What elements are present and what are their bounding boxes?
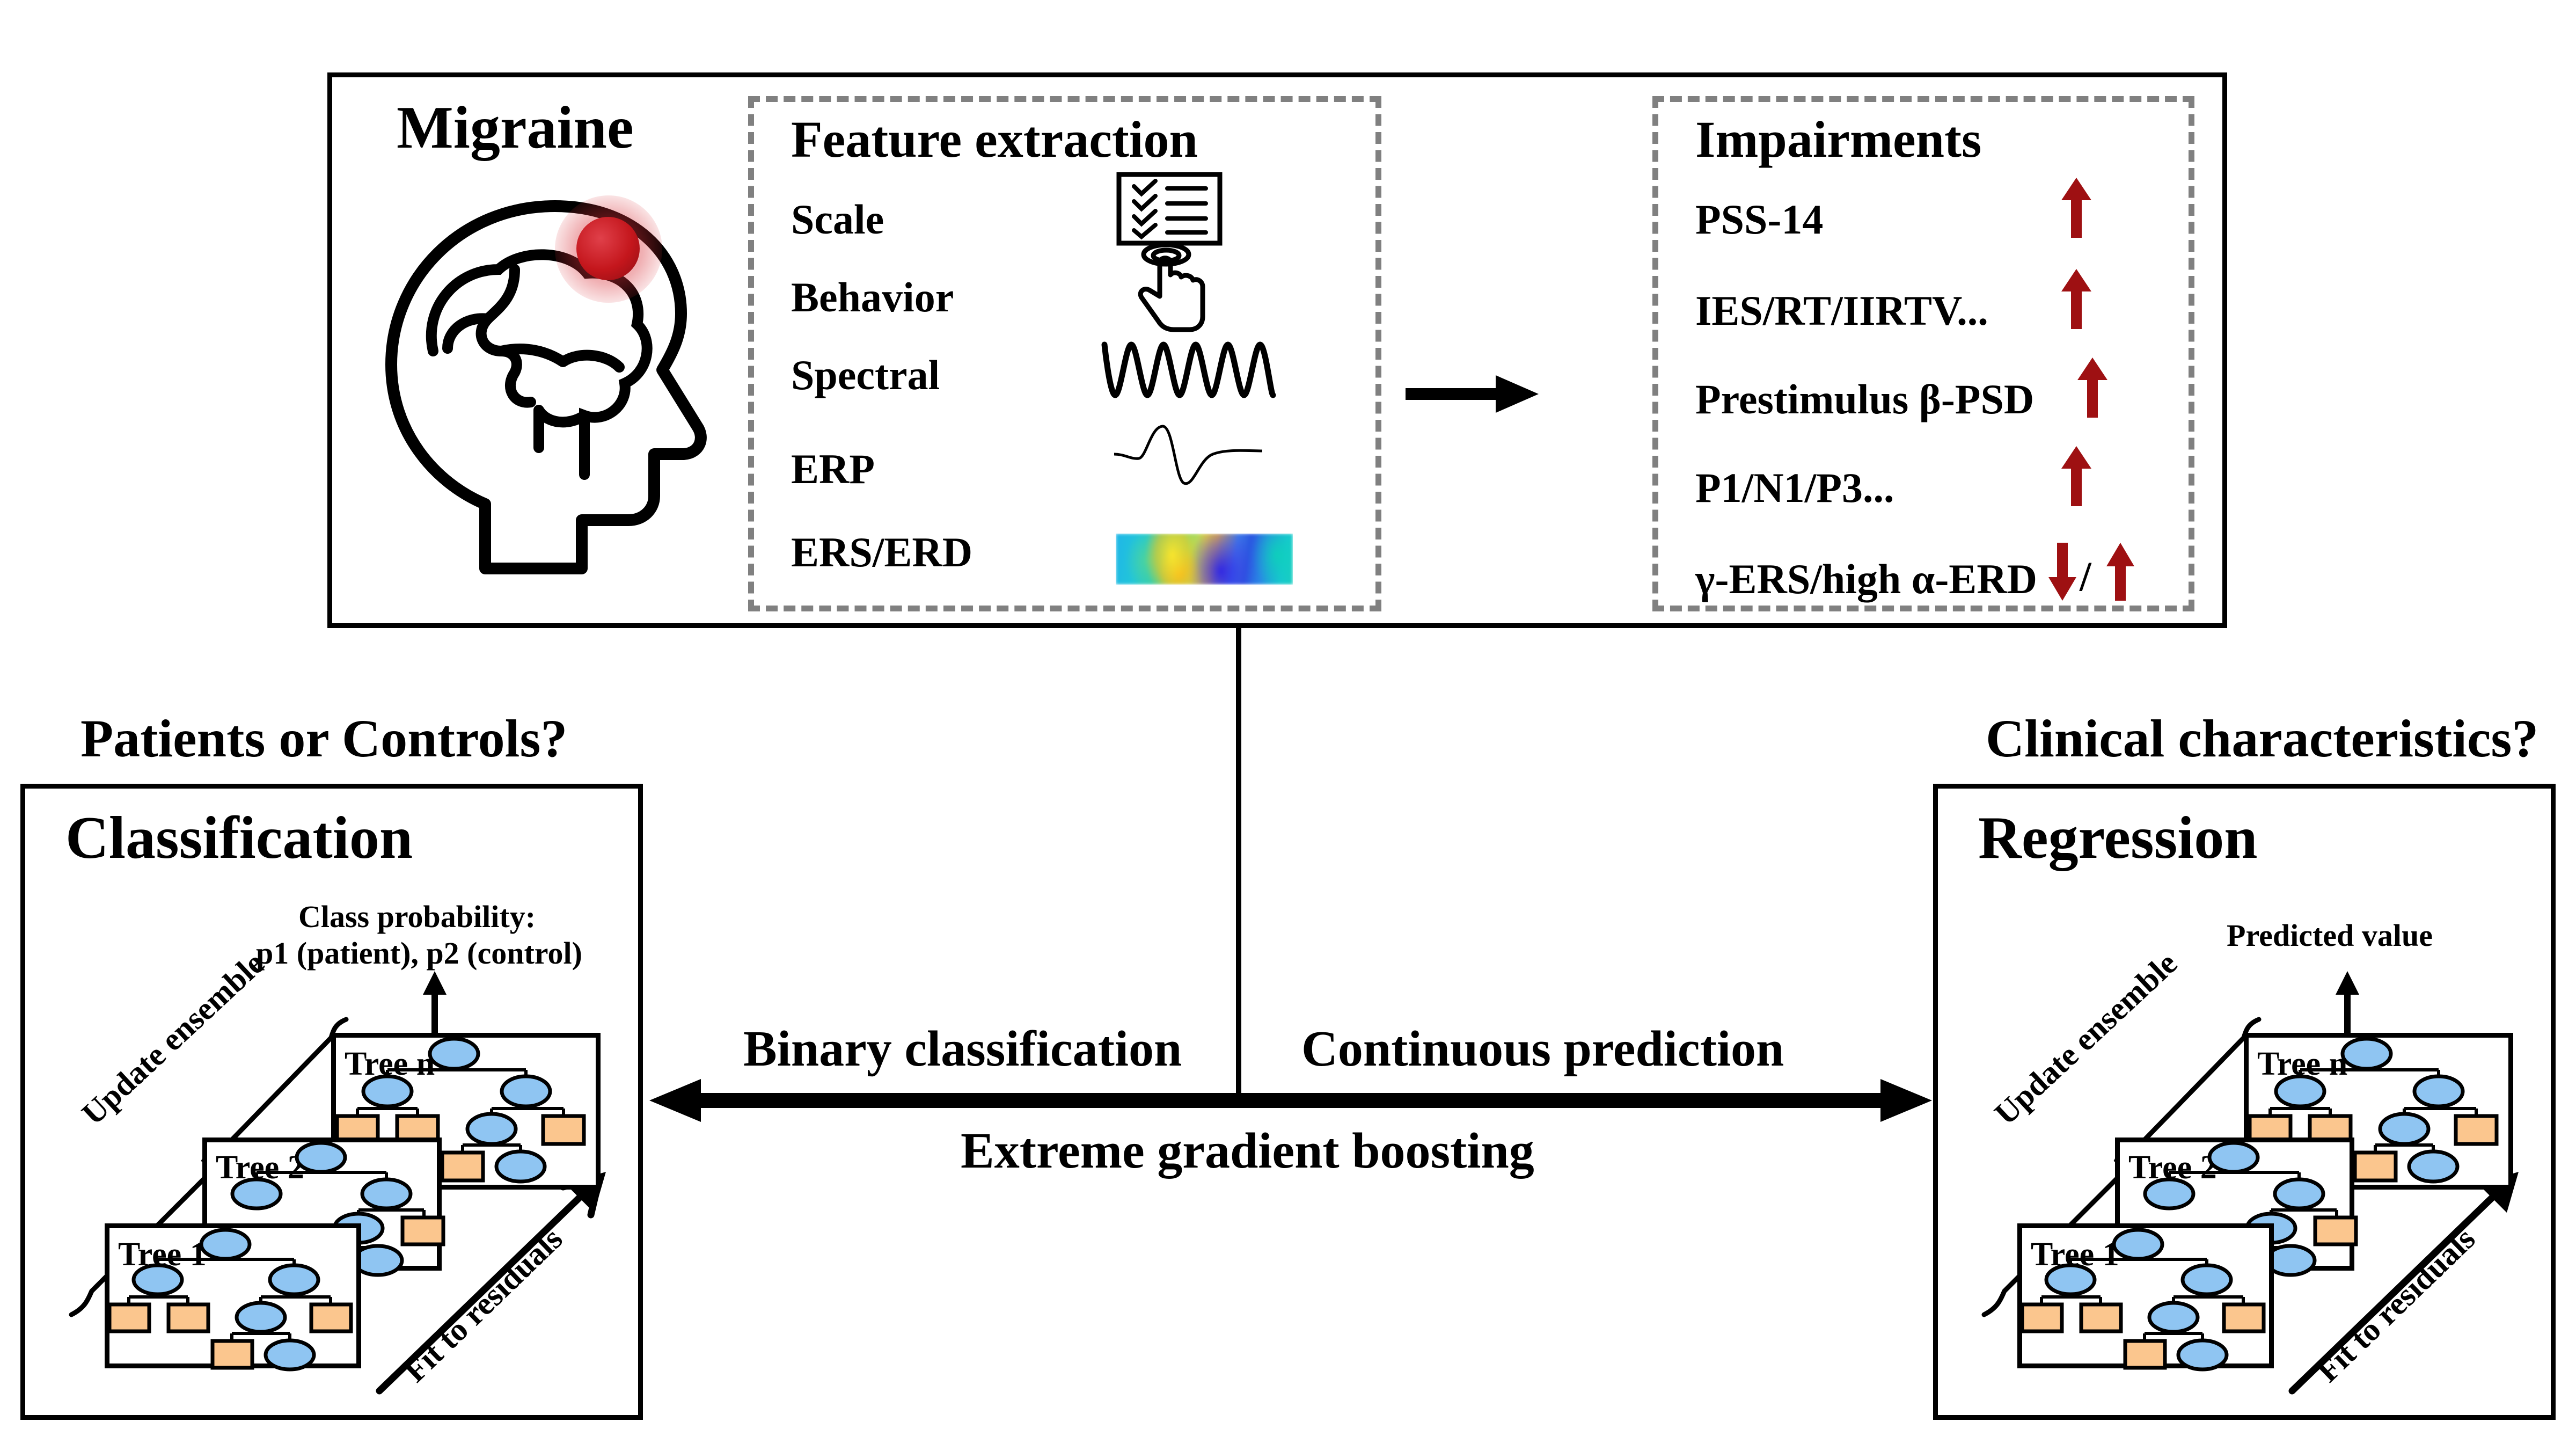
checklist-icon — [1116, 171, 1223, 246]
impairment-label-ies-rt-iirtv: IES/RT/IIRTV... — [1695, 287, 1988, 335]
regression-title: Regression — [1978, 804, 2258, 873]
classification-panel: Classification Class probability: p1 (pa… — [20, 784, 643, 1420]
tree-card-1: Tree 1 — [2017, 1223, 2274, 1368]
right-arrow-label: Continuous prediction — [1301, 1020, 1784, 1078]
trend-up-icon-ies — [2060, 268, 2092, 330]
impairment-label-pss14: PSS-14 — [1695, 195, 1823, 244]
output-arrow-up-icon — [2332, 971, 2362, 1041]
time-frequency-heatmap-icon — [1116, 534, 1293, 585]
tree-graph-1 — [109, 1228, 366, 1373]
feature-item-label-erp: ERP — [791, 445, 875, 493]
left-question: Patients or Controls? — [80, 708, 567, 769]
arrow-right-icon — [1406, 370, 1540, 418]
erp-waveform-icon — [1113, 421, 1263, 488]
impairment-label-p1-n1-p3: P1/N1/P3... — [1695, 464, 1894, 512]
class-probability-line1: Class probability: — [256, 899, 578, 935]
feature-item-label-scale: Scale — [791, 195, 884, 244]
tree-connector-line — [1236, 628, 1241, 1100]
impairment-label-prestimulus-beta-psd: Prestimulus β-PSD — [1695, 375, 2034, 424]
tree-graph-1 — [2022, 1228, 2279, 1373]
trend-up-icon-beta-psd — [2076, 356, 2109, 419]
impairments-title: Impairments — [1695, 110, 1981, 169]
pain-spot-core — [576, 217, 640, 280]
right-question: Clinical characteristics? — [1986, 708, 2538, 769]
class-probability-label: Class probability: p1 (patient), p2 (con… — [256, 899, 578, 972]
tree-card-1: Tree 1 — [105, 1223, 361, 1368]
predicted-value-label: Predicted value — [2190, 917, 2469, 954]
trend-up-icon-p1-n1-p3 — [2060, 445, 2092, 507]
output-arrow-up-icon — [420, 971, 450, 1041]
left-arrow-label: Binary classification — [743, 1020, 1182, 1078]
feature-item-label-behavior: Behavior — [791, 273, 954, 322]
class-probability-line2: p1 (patient), p2 (control) — [256, 935, 578, 972]
impairments-panel — [1652, 96, 2194, 611]
disease-title: Migraine — [397, 93, 634, 163]
feature-extraction-title: Feature extraction — [791, 110, 1198, 169]
classification-title: Classification — [65, 804, 413, 873]
feature-item-label-ers-erd: ERS/ERD — [791, 528, 972, 577]
head-brain-pain-icon — [354, 174, 686, 571]
branch-double-arrow — [649, 1075, 1932, 1126]
regression-panel: Regression Predicted value Update ensemb… — [1933, 784, 2556, 1420]
trend-separator: / — [2080, 552, 2091, 601]
trend-up-icon-pss14 — [2060, 177, 2092, 239]
tap-finger-icon — [1121, 238, 1218, 335]
sine-wave-icon — [1102, 340, 1274, 399]
trend-down-icon-gamma-ers — [2047, 542, 2077, 602]
trend-up-icon-alpha-erd — [2105, 542, 2135, 602]
top-panel: Migraine Feature extraction Scale Behavi… — [327, 72, 2227, 628]
method-label: Extreme gradient boosting — [961, 1122, 1534, 1180]
feature-item-label-spectral: Spectral — [791, 351, 940, 399]
impairment-label-gamma-ers-alpha-erd: γ-ERS/high α-ERD — [1695, 555, 2037, 603]
